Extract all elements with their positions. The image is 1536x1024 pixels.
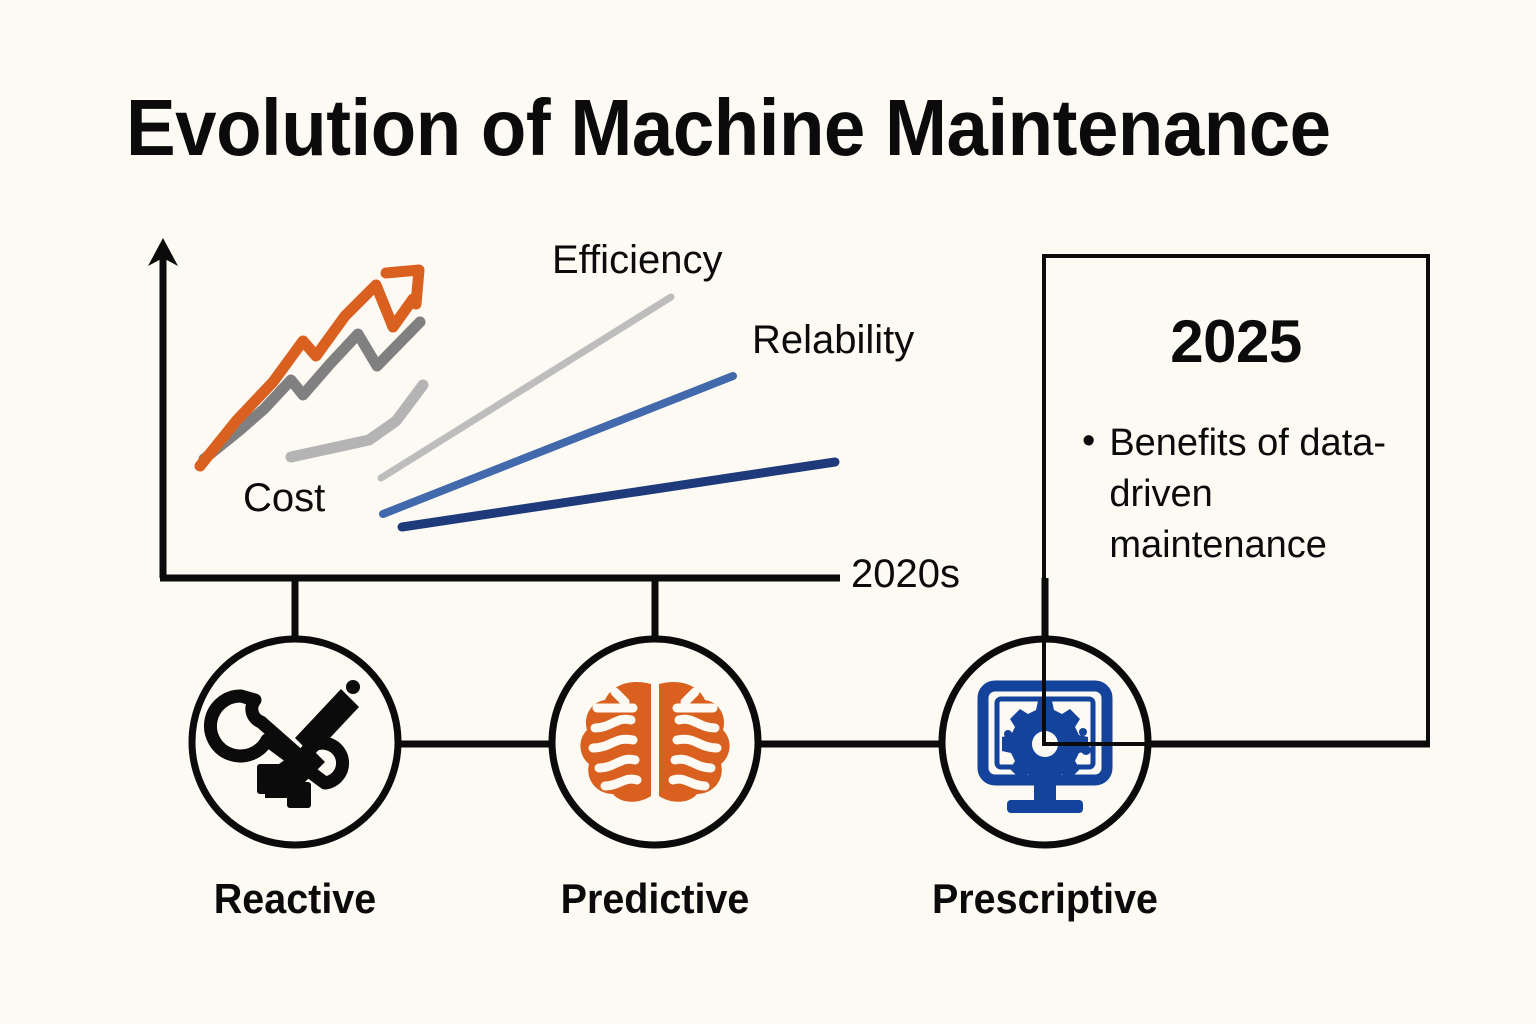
stage-label-predictive: Predictive bbox=[514, 878, 796, 920]
panel-year-heading: 2025 bbox=[1046, 312, 1426, 372]
stage-node-predictive[interactable] bbox=[549, 636, 761, 848]
chart-axis-label-decade: 2020s bbox=[851, 554, 960, 594]
trend-line-efficiency bbox=[381, 297, 671, 478]
bullet-marker-icon: • bbox=[1082, 418, 1095, 464]
trend-line-arrowhead bbox=[386, 270, 419, 304]
stage-node-reactive[interactable] bbox=[189, 636, 401, 848]
panel-bullet-list: • Benefits of data-driven maintenance bbox=[1082, 418, 1412, 571]
chart-label-efficiency: Efficiency bbox=[552, 240, 722, 280]
infographic-canvas: Evolution of Machine Maintenance Efficie… bbox=[0, 0, 1536, 1024]
y-axis bbox=[148, 238, 178, 578]
trend-line-cost-secondary bbox=[204, 322, 420, 459]
trend-line-cost-primary bbox=[200, 285, 413, 466]
stage-node-prescriptive[interactable] bbox=[939, 636, 1151, 848]
trend-lines-zigzag bbox=[200, 270, 423, 466]
stage-label-reactive: Reactive bbox=[154, 878, 436, 920]
stage-label-prescriptive: Prescriptive bbox=[904, 878, 1186, 920]
panel-bullet-text: Benefits of data-driven maintenance bbox=[1109, 418, 1412, 571]
page-title: Evolution of Machine Maintenance bbox=[126, 88, 1331, 168]
chart-label-cost: Cost bbox=[243, 478, 325, 518]
list-item: • Benefits of data-driven maintenance bbox=[1082, 418, 1412, 571]
trend-line-baseline bbox=[402, 462, 835, 527]
trend-line-relability bbox=[383, 376, 733, 514]
chart-label-relability: Relability bbox=[752, 320, 914, 360]
trend-line-cost-tertiary bbox=[291, 385, 423, 457]
